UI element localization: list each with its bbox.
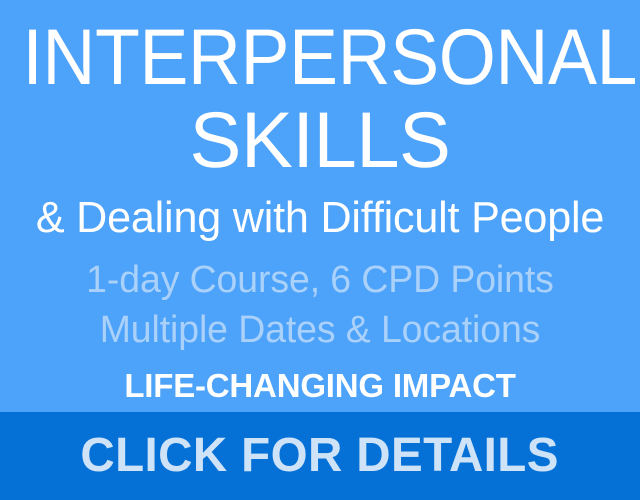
advertisement-banner[interactable]: INTERPERSONAL SKILLS & Dealing with Diff… [0,0,640,500]
subheadline: & Dealing with Difficult People [6,195,633,241]
cta-button-bar[interactable]: CLICK FOR DETAILS [0,412,640,500]
headline-line-2: SKILLS [5,101,635,178]
detail-line-dates-locations: Multiple Dates & Locations [5,305,635,355]
ad-content-area: INTERPERSONAL SKILLS & Dealing with Diff… [0,0,640,412]
headline-block: INTERPERSONAL SKILLS [0,18,640,179]
impact-tagline: LIFE-CHANGING IMPACT [0,368,640,404]
cta-button-label: CLICK FOR DETAILS [81,432,559,480]
headline-line-1: INTERPERSONAL [22,18,617,95]
detail-line-course-duration: 1-day Course, 6 CPD Points [5,255,635,305]
course-detail-lines: 1-day Course, 6 CPD Points Multiple Date… [0,255,640,355]
